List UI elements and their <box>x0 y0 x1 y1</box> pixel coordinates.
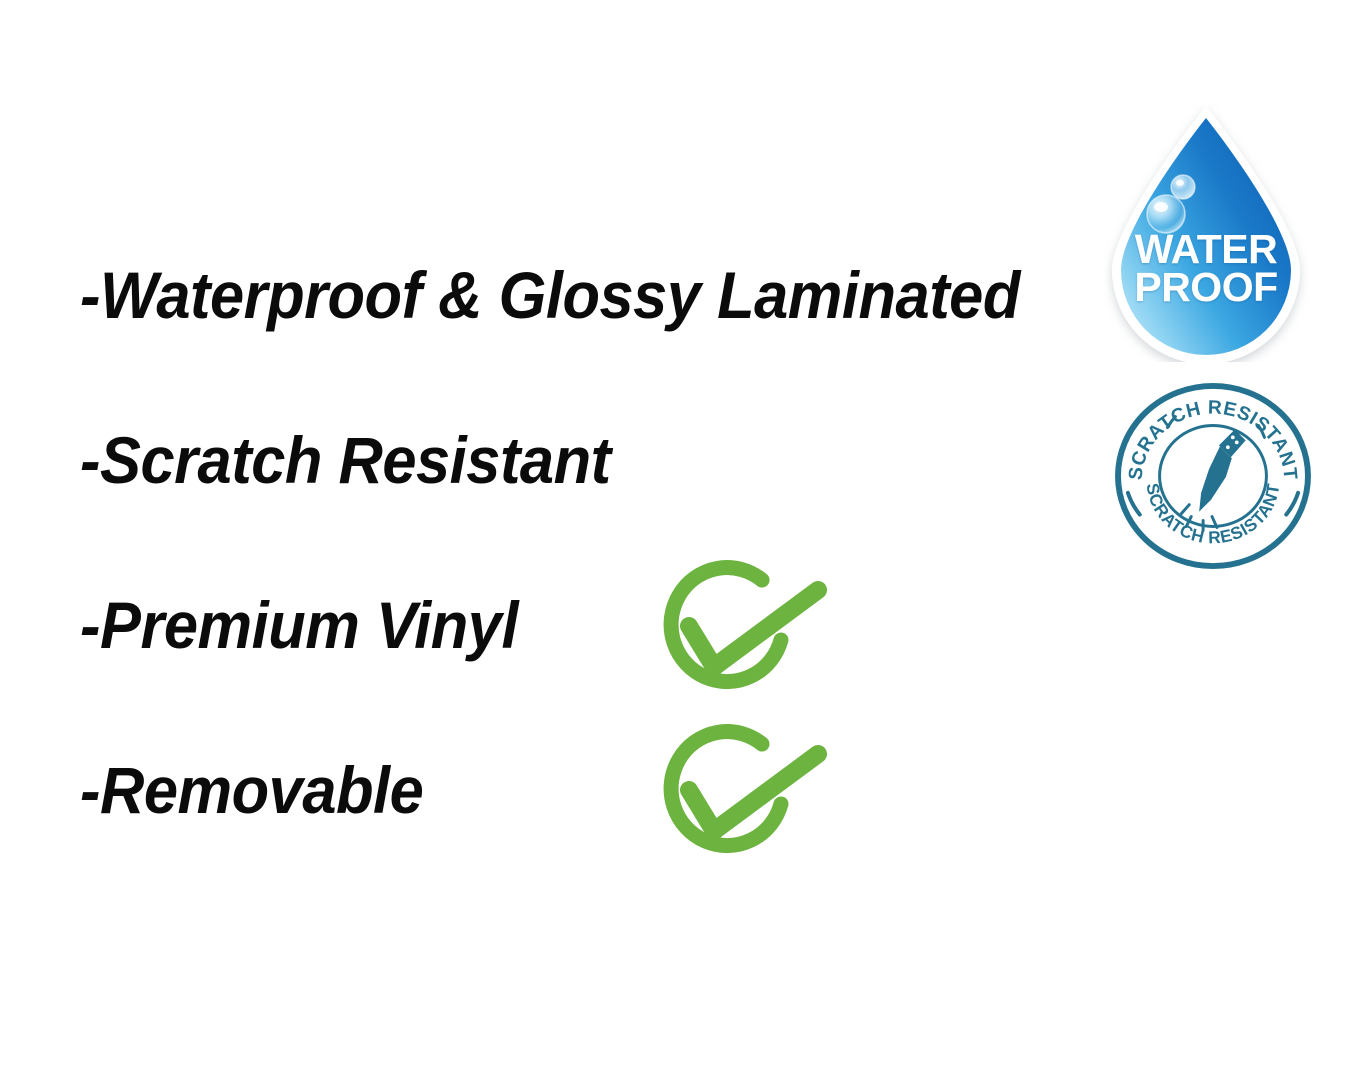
checkmark-removable <box>642 722 832 872</box>
impact-line-1 <box>1181 505 1189 514</box>
checkmark-premium-vinyl <box>642 558 832 708</box>
bubble-large-icon <box>1147 195 1185 233</box>
knife-rivet-2 <box>1235 440 1239 444</box>
circle-check-icon <box>642 722 832 872</box>
feature-item-waterproof-glossy-laminated: -Waterproof & Glossy Laminated <box>80 262 1020 328</box>
knife-rivet-1 <box>1231 436 1235 440</box>
circle-check-icon <box>642 558 832 708</box>
feature-item-premium-vinyl: -Premium Vinyl <box>80 592 518 658</box>
knife-icon <box>1181 429 1245 530</box>
waterproof-badge: WATER PROOF <box>1104 104 1308 362</box>
bubble-small-icon <box>1171 175 1195 199</box>
bubble-highlight-small <box>1176 180 1184 186</box>
knife-rivet-3 <box>1226 445 1230 449</box>
water-drop-icon <box>1104 104 1308 362</box>
check-tick <box>689 754 818 831</box>
stamp-dash-right <box>1286 493 1298 515</box>
bubble-highlight <box>1154 202 1168 212</box>
check-tick <box>689 590 818 667</box>
feature-list-graphic: -Waterproof & Glossy Laminated -Scratch … <box>0 0 1359 1080</box>
knife-stamp-icon: SCRATCH RESISTANT SCRATCH RESISTANT <box>1114 382 1312 570</box>
feature-item-removable: -Removable <box>80 757 423 823</box>
feature-item-scratch-resistant: -Scratch Resistant <box>80 427 611 493</box>
water-drop-body <box>1121 118 1291 355</box>
scratch-resistant-badge: SCRATCH RESISTANT SCRATCH RESISTANT <box>1114 382 1312 570</box>
stamp-dash-left <box>1128 493 1140 515</box>
knife-blade <box>1199 446 1232 511</box>
